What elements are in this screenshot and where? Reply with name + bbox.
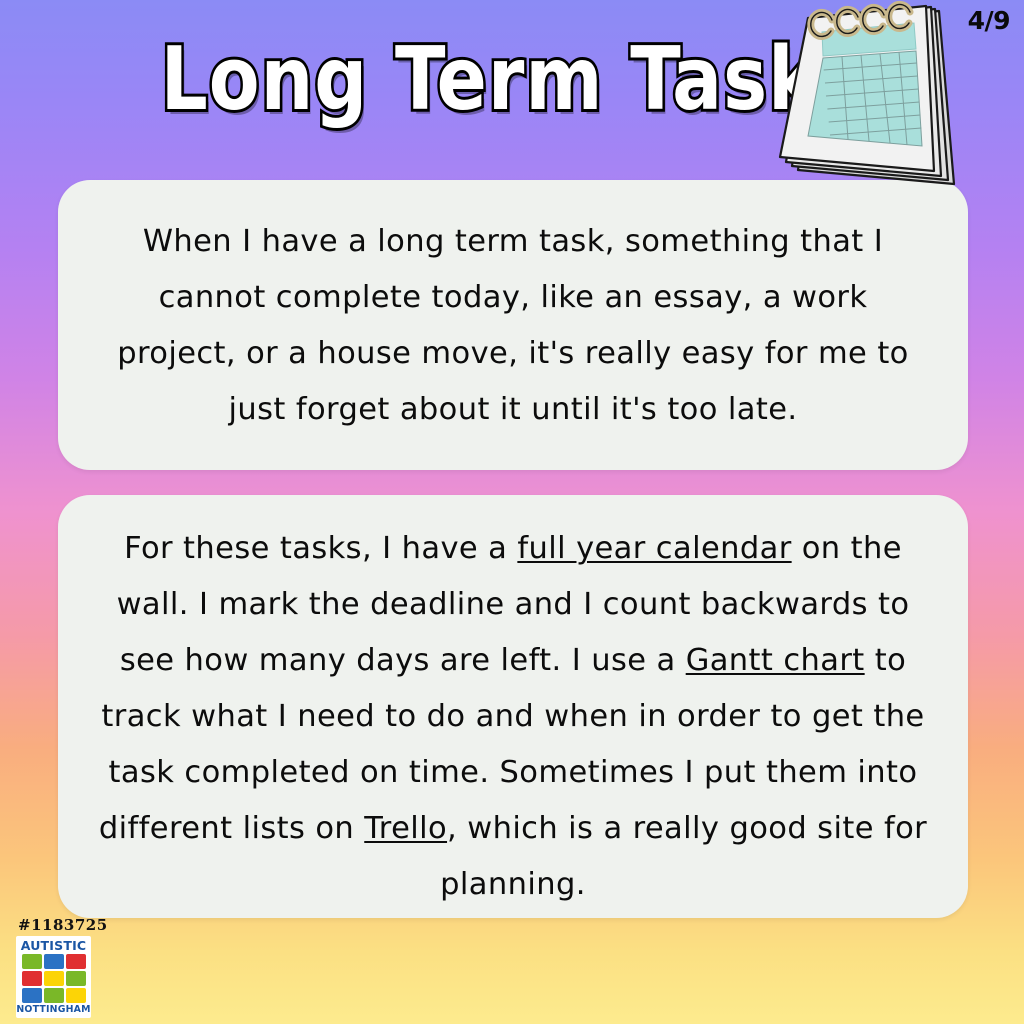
slide-canvas: 4/9 Long Term Tasks bbox=[0, 0, 1024, 1024]
logo-color-cell bbox=[66, 971, 86, 986]
logo-color-cell bbox=[44, 971, 64, 986]
footer-branding: #1183725 AUTISTIC NOTTINGHAM bbox=[16, 918, 108, 1018]
logo-color-cell bbox=[44, 988, 64, 1003]
emphasised-term: Gantt chart bbox=[686, 643, 865, 678]
emphasised-term: full year calendar bbox=[517, 531, 791, 566]
logo-color-cell bbox=[66, 954, 86, 969]
page-counter: 4/9 bbox=[968, 6, 1010, 35]
reference-number: #1183725 bbox=[18, 918, 108, 933]
logo-color-cell bbox=[22, 954, 42, 969]
logo-word-top: AUTISTIC bbox=[21, 940, 87, 953]
logo-color-grid bbox=[22, 954, 86, 1003]
emphasised-term: Trello bbox=[364, 811, 447, 846]
card-2-paragraph: For these tasks, I have a full year cale… bbox=[92, 521, 934, 913]
logo-color-cell bbox=[44, 954, 64, 969]
text-card-methods: For these tasks, I have a full year cale… bbox=[58, 495, 968, 918]
logo-color-cell bbox=[22, 971, 42, 986]
card-1-paragraph: When I have a long term task, something … bbox=[100, 214, 926, 438]
logo-color-cell bbox=[22, 988, 42, 1003]
autistic-nottingham-logo: AUTISTIC NOTTINGHAM bbox=[16, 936, 91, 1018]
text-card-intro: When I have a long term task, something … bbox=[58, 180, 968, 470]
logo-word-bottom: NOTTINGHAM bbox=[16, 1005, 90, 1014]
page-title: Long Term Tasks bbox=[0, 36, 1024, 123]
logo-color-cell bbox=[66, 988, 86, 1003]
